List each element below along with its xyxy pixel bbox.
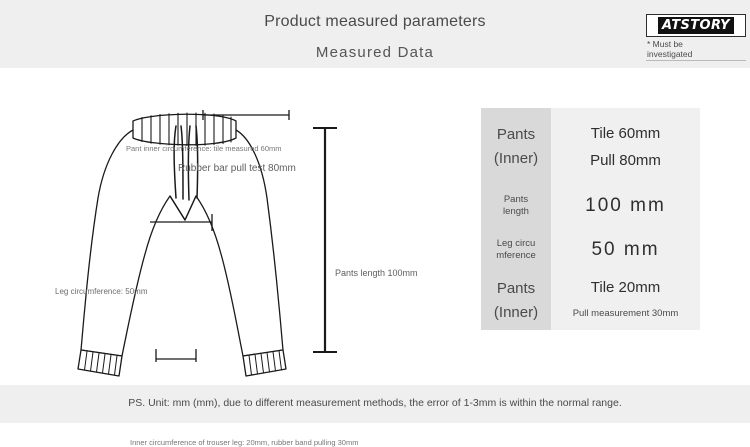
row-value-line1: 50 mm	[553, 239, 698, 261]
measurement-data-table: Pants (Inner) Tile 60mm Pull 80mm Pants …	[481, 108, 700, 330]
table-row: Pants length 100 mm	[481, 188, 700, 224]
row-label: Pants (Inner)	[481, 123, 551, 171]
row-value-line1: 100 mm	[553, 195, 698, 217]
table-row: Pants (Inner) Tile 60mm Pull 80mm	[481, 122, 700, 172]
left-leg-outline	[81, 130, 185, 356]
row-value: 50 mm	[551, 239, 700, 261]
dimension-leg-circumference	[150, 214, 212, 231]
annotation-rubber-pull: Rubber bar pull test 80mm	[178, 163, 296, 174]
logo-note: * Must be investigated	[646, 39, 746, 61]
pants-diagram-svg	[0, 68, 470, 385]
row-label: Pants length	[481, 194, 551, 218]
row-value-line1: Tile 60mm	[553, 120, 698, 147]
brand-logo-block: ATSTORY * Must be investigated	[646, 14, 746, 61]
table-row: Leg circu mference 50 mm	[481, 232, 700, 268]
row-value-line2: Pull 80mm	[553, 147, 698, 174]
waistband	[133, 114, 236, 145]
row-value-line1: Tile 20mm	[553, 275, 698, 301]
page-subtitle: Measured Data	[0, 44, 750, 61]
left-cuff	[78, 350, 122, 376]
logo-note-line1: * Must be	[647, 39, 746, 49]
spec-sheet-page: Product measured parameters Measured Dat…	[0, 0, 750, 423]
annotation-pants-length: Pants length 100mm	[335, 268, 418, 278]
row-value: Tile 60mm Pull 80mm	[551, 120, 700, 174]
row-label-line1: Pants	[483, 277, 549, 301]
annotation-trouser-leg: Inner circumference of trouser leg: 20mm…	[130, 438, 358, 447]
page-title: Product measured parameters	[0, 13, 750, 31]
row-label-line1: Pants	[483, 194, 549, 206]
row-label-line2: (Inner)	[483, 301, 549, 325]
row-label-line2: length	[483, 206, 549, 218]
row-value: Tile 20mm Pull measurement 30mm	[551, 275, 700, 327]
row-label: Pants (Inner)	[481, 277, 551, 325]
row-label-line1: Leg circu	[483, 238, 549, 250]
brand-name: ATSTORY	[658, 17, 734, 34]
row-label-line2: (Inner)	[483, 147, 549, 171]
brand-logo-box: ATSTORY	[646, 14, 746, 37]
annotation-waist-tile: Pant inner circumference: tile measured …	[126, 144, 281, 153]
row-label: Leg circu mference	[481, 238, 551, 262]
row-label-line1: Pants	[483, 123, 549, 147]
dimension-cuff	[156, 349, 196, 362]
row-value: 100 mm	[551, 195, 700, 217]
pants-technical-drawing: Pant inner circumference: tile measured …	[0, 68, 470, 385]
drawstring-right-b	[196, 126, 198, 198]
footer-note: PS. Unit: mm (mm), due to different meas…	[0, 397, 750, 409]
row-value-line2: Pull measurement 30mm	[553, 301, 698, 327]
table-row: Pants (Inner) Tile 20mm Pull measurement…	[481, 276, 700, 326]
row-label-line2: mference	[483, 250, 549, 262]
annotation-leg-circ: Leg circumference: 50mm	[55, 287, 147, 296]
logo-note-line2: investigated	[647, 49, 746, 59]
